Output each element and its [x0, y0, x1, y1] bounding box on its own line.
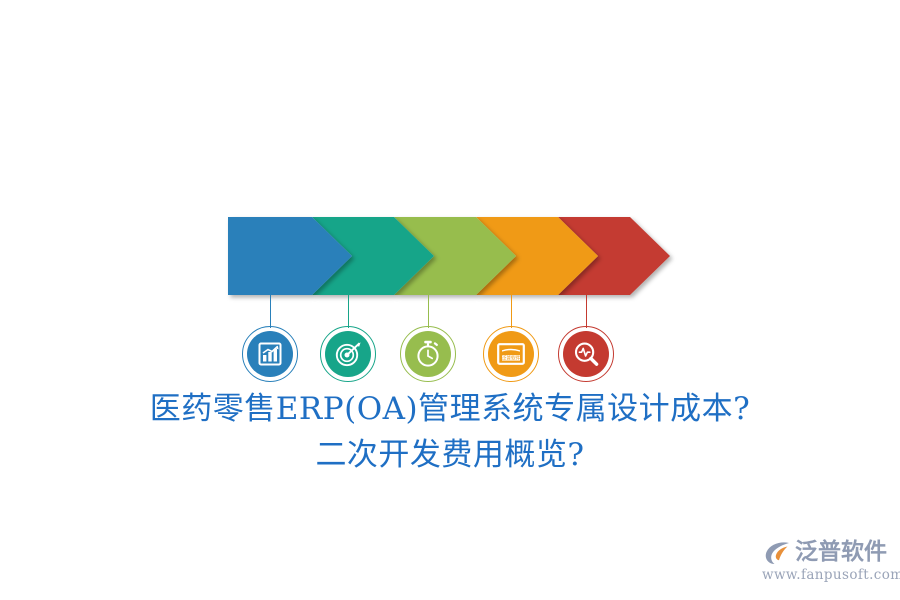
banner-page: 泛普软件 医药零售ERP(OA)管理系统专属设计成本? 二次开发费用概览? — [0, 0, 900, 600]
icon-node-bar-chart[interactable] — [242, 326, 298, 382]
headline-line-1: 医药零售ERP(OA)管理系统专属设计成本? — [0, 386, 900, 432]
headline: 医药零售ERP(OA)管理系统专属设计成本? 二次开发费用概览? — [0, 386, 900, 478]
stopwatch-icon — [415, 340, 441, 368]
connector-line-1 — [270, 292, 271, 328]
connector-line-2 — [348, 292, 349, 328]
icon-disc — [405, 331, 451, 377]
magnifier-pulse-icon — [573, 341, 600, 368]
icon-node-target[interactable] — [320, 326, 376, 382]
watermark-brand: 泛普软件 — [795, 537, 887, 567]
connector-line-4 — [511, 292, 512, 328]
watermark-logo: 泛普软件 www.fanpusoft.com — [762, 536, 894, 586]
icon-disc: 泛普软件 — [488, 331, 534, 377]
icon-node-magnifier-pulse[interactable] — [558, 326, 614, 382]
bar-chart-icon — [257, 341, 283, 367]
connector-line-5 — [586, 292, 587, 328]
icon-row: 泛普软件 — [228, 326, 670, 386]
target-icon — [335, 341, 362, 368]
headline-line-2: 二次开发费用概览? — [0, 432, 900, 478]
icon-disc — [325, 331, 371, 377]
screen-board-icon: 泛普软件 — [497, 343, 525, 365]
icon-node-screen-board[interactable]: 泛普软件 — [483, 326, 539, 382]
watermark-top-row: 泛普软件 — [762, 536, 894, 568]
icon-disc — [563, 331, 609, 377]
screen-board-label: 泛普软件 — [502, 355, 521, 362]
connector-line-3 — [428, 292, 429, 328]
fanpu-logo-mark-icon — [762, 537, 792, 567]
icon-disc — [247, 331, 293, 377]
chevron-banner — [228, 217, 670, 295]
icon-node-stopwatch[interactable] — [400, 326, 456, 382]
watermark-url: www.fanpusoft.com — [762, 567, 894, 583]
